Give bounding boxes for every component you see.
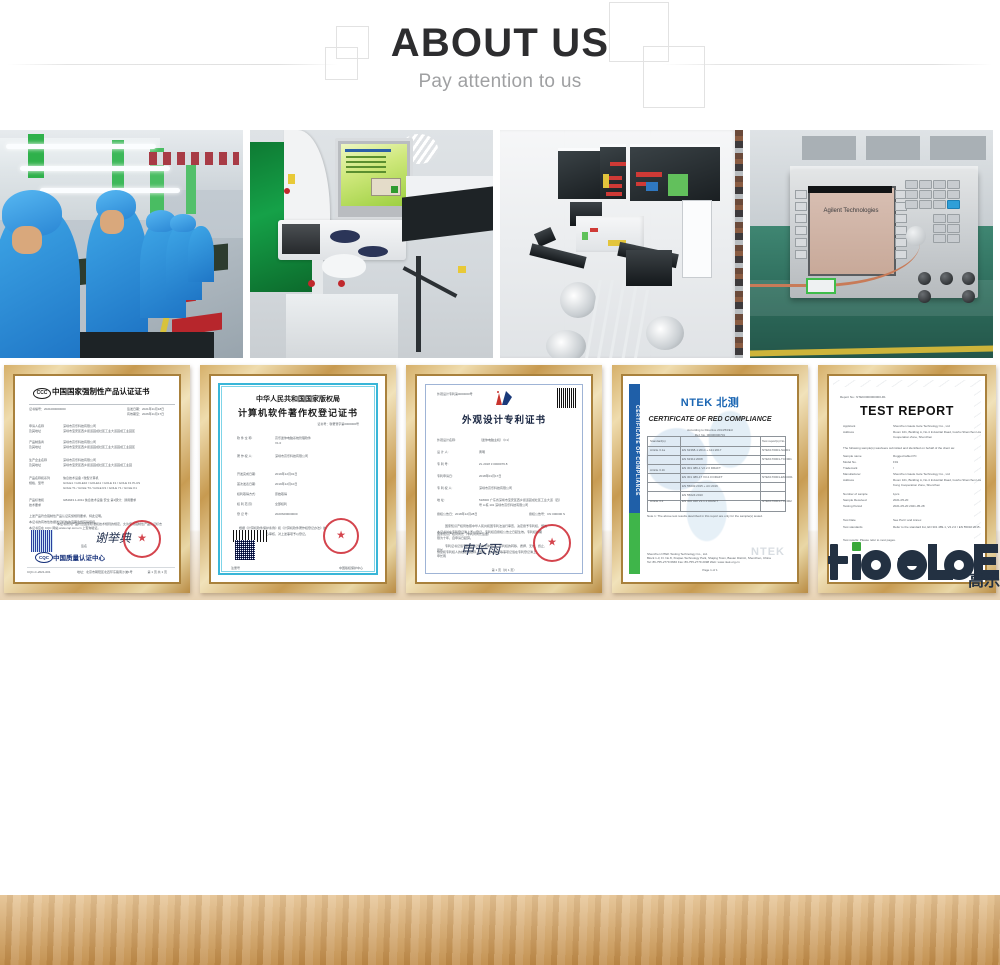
cnipa-logo [492, 389, 516, 407]
cqc-logo: CQC [35, 552, 53, 563]
certificate-frame-software-copyright[interactable]: 中华人民共和国国家版权局 计算机软件著作权登记证书 证书号：软著登字第00000… [200, 365, 396, 593]
higole-accent-dot [852, 542, 861, 551]
photo-agilent-test-equipment: Agilent Technologies [750, 130, 993, 358]
ccc-qr-code [31, 530, 53, 552]
patent-signature: 申长雨 [461, 539, 500, 558]
copyright-field-0: 软 件 全 称: [237, 436, 252, 440]
copyright-field-2: 开发完成日期: [237, 472, 256, 476]
patent-title: 外观设计专利证书 [421, 412, 587, 426]
patent-field-4: 专 利 权 人: [437, 486, 452, 490]
report-field-1: Address [843, 430, 854, 434]
copyright-field-4: 权利取得方式: [237, 492, 256, 496]
patent-field-5: 地 址: [437, 498, 445, 502]
wooden-surface-shading [0, 895, 1000, 965]
ccc-title: 中国国家强制性产品认证证书 [52, 386, 150, 397]
report-field-7: Test Date [843, 518, 856, 522]
copyright-title-line1: 中华人民共和国国家版权局 [215, 394, 381, 404]
higole-chinese-name: 高乐 [968, 574, 1000, 590]
copyright-qr-code [235, 540, 255, 560]
test-report-title: TEST REPORT [833, 404, 981, 418]
patent-qr-code [557, 388, 577, 408]
report-field-8: Test standards [843, 525, 863, 529]
ccc-red-seal: ★ [123, 520, 161, 558]
patent-field-3: 专利申请日: [437, 474, 453, 478]
ntek-brand: NTEK 北测 [627, 394, 793, 410]
patent-red-seal: ★ [533, 524, 571, 562]
report-field-6: Address [843, 478, 854, 482]
report-field-3: Model No. [843, 460, 857, 464]
ccc-badge: CCC [33, 388, 51, 399]
compliance-standards-table: Standard(s) Test report(s) No. Article 3… [647, 436, 786, 512]
red-compliance-title: CERTIFICATE OF RED COMPLIANCE [627, 416, 793, 423]
certificate-frame-red-compliance[interactable]: CERTIFICATE OF COMPLIANCE NTEK 北测 CERTIF… [612, 365, 808, 593]
report-field-0: Applicant [843, 424, 855, 428]
photo-smt-inspection-machine [250, 130, 493, 358]
copyright-field-6: 登 记 号: [237, 512, 249, 516]
copyright-title-line2: 计算机软件著作权登记证书 [215, 406, 381, 419]
copyright-field-5: 权 利 范 围: [237, 502, 252, 506]
cqc-issuer: 中国质量认证中心 [53, 552, 105, 562]
page-header: ABOUT US Pay attention to us [0, 0, 1000, 118]
certificate-frame-design-patent[interactable]: 外观设计专利第0000000号 外观设计专利证书 外观设计名称: （迷你电脑主机… [406, 365, 602, 593]
higole-logo: 高乐 [828, 536, 1000, 592]
page-subtitle: Pay attention to us [0, 65, 1000, 93]
report-field-2: Sample name [843, 454, 862, 458]
ntek-watermark: NTEK [751, 546, 785, 558]
copyright-field-1: 著 作 权 人: [237, 454, 252, 458]
factory-photo-strip: Agilent Technologies [0, 130, 1000, 358]
photo-assembly-line [0, 130, 243, 358]
copyright-red-seal: ★ [323, 518, 359, 554]
report-field-5: Manufacturer [843, 472, 861, 476]
patent-field-1: 设 计 人: [437, 450, 449, 454]
copyright-field-3: 首次发表日期: [237, 482, 256, 486]
patent-field-2: 专 利 号: [437, 462, 449, 466]
patent-field-0: 外观设计名称: [437, 438, 456, 442]
certificate-frame-ccc[interactable]: CCC 中国国家强制性产品认证证书 证书编号：2021000000000 签发日… [4, 365, 190, 593]
about-us-page: ABOUT US Pay attention to us [0, 0, 1000, 600]
photo-pick-and-place-machines [500, 130, 743, 358]
report-field-4: Trademark [843, 466, 857, 470]
page-title: ABOUT US [0, 0, 1000, 65]
header-title-block: ABOUT US Pay attention to us [0, 0, 1000, 93]
